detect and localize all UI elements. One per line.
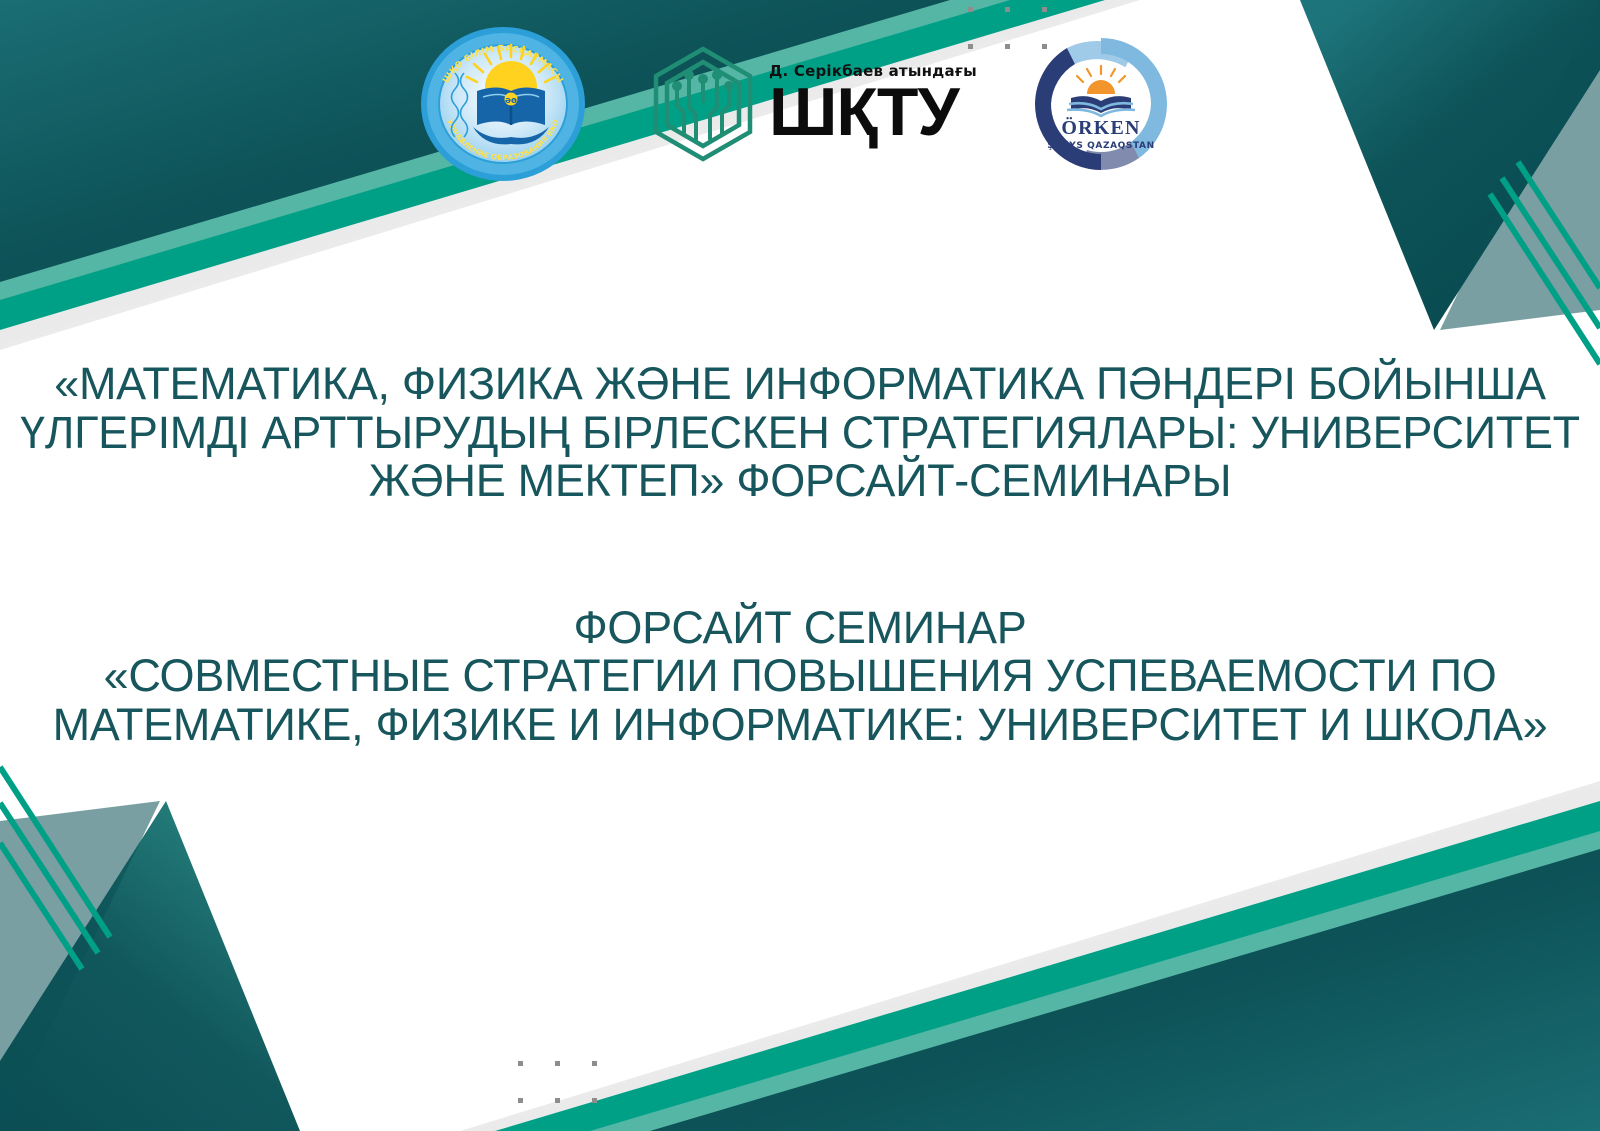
- title-block: «МАТЕМАТИКА, ФИЗИКА ЖӘНЕ ИНФОРМАТИКА ПӘН…: [0, 360, 1600, 750]
- orken-subtitle: ŞYGYS QAZAQSTAN: [1047, 141, 1155, 151]
- shko-bilim-baskarmasy-seal-icon: ШҚО БІЛІМ БАСҚАРМАСЫ УПРАВЛЕНИЕ ОБРАЗОВА…: [419, 25, 587, 183]
- dot: [555, 1061, 560, 1066]
- presentation-slide: ШҚО БІЛІМ БАСҚАРМАСЫ УПРАВЛЕНИЕ ОБРАЗОВА…: [0, 0, 1600, 1131]
- title-kazakh: «МАТЕМАТИКА, ФИЗИКА ЖӘНЕ ИНФОРМАТИКА ПӘН…: [0, 360, 1600, 506]
- title-russian-group: ФОРСАЙТ СЕМИНАР «СОВМЕСТНЫЕ СТРАТЕГИИ ПО…: [0, 604, 1600, 750]
- dot: [1042, 7, 1047, 12]
- dot: [518, 1098, 523, 1103]
- dot-grid-bottom: [518, 1061, 629, 1131]
- dot: [592, 1061, 597, 1066]
- dot: [592, 1098, 597, 1103]
- svg-text:ӘӨ: ӘӨ: [505, 97, 517, 105]
- deco-bottom-right: [460, 781, 1600, 1131]
- dot: [968, 7, 973, 12]
- shktu-hexagon-circuit-icon: [649, 45, 757, 163]
- orken-logo-icon: ÖRKEN ŞYGYS QAZAQSTAN: [1021, 30, 1181, 178]
- deco-bottom-left-lines: [0, 767, 110, 969]
- dot: [1005, 7, 1010, 12]
- shktu-wordmark: ШҚТУ: [769, 81, 959, 144]
- logo-row: ШҚО БІЛІМ БАСҚАРМАСЫ УПРАВЛЕНИЕ ОБРАЗОВА…: [0, 24, 1600, 184]
- orken-title: ÖRKEN: [1061, 116, 1140, 139]
- deco-top-right-lines: [1490, 162, 1600, 364]
- title-russian-body: «СОВМЕСТНЫЕ СТРАТЕГИИ ПОВЫШЕНИЯ УСПЕВАЕМ…: [0, 652, 1600, 749]
- deco-bottom-left: [0, 767, 300, 1131]
- title-russian-heading: ФОРСАЙТ СЕМИНАР: [0, 604, 1600, 653]
- shktu-logo: Д. Серікбаев атындағы ШҚТУ: [649, 43, 959, 165]
- dot: [518, 1061, 523, 1066]
- dot: [555, 1098, 560, 1103]
